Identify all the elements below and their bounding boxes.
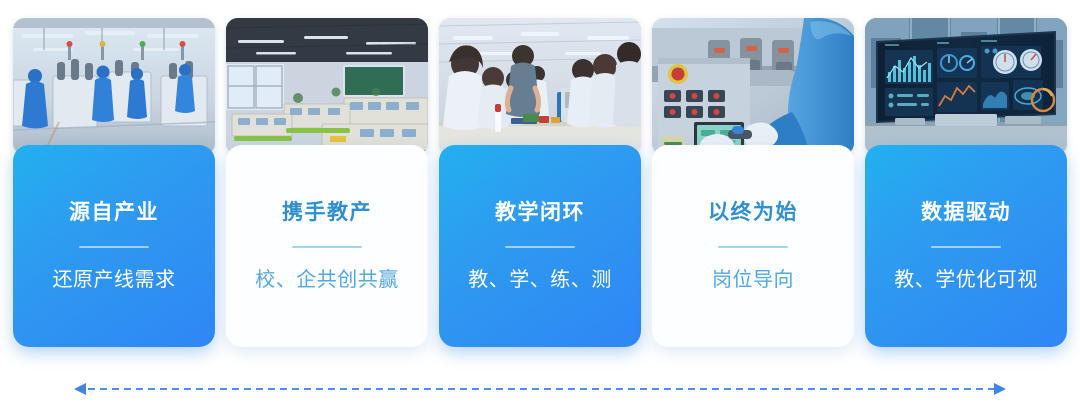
feature-section: 源自产业 还原产线需求: [0, 0, 1080, 408]
photo-operator-control-panel: [652, 18, 854, 155]
teacher-students-lab-icon: [439, 18, 641, 155]
feature-card-subtitle: 还原产线需求: [53, 270, 176, 290]
card-divider: [79, 246, 149, 248]
operator-control-panel-icon: [652, 18, 854, 155]
feature-card-subtitle: 教、学优化可视: [894, 270, 1038, 290]
feature-column: 数据驱动 教、学优化可视: [865, 0, 1067, 372]
card-divider: [931, 246, 1001, 248]
feature-column: 携手教产 校、企共创共赢: [226, 0, 428, 372]
data-dashboard-screen-icon: [865, 18, 1067, 155]
feature-card-4[interactable]: 以终为始 岗位导向: [652, 145, 854, 347]
feature-card-subtitle: 教、学、练、测: [468, 270, 612, 290]
dashed-arrow-icon: [60, 381, 1020, 397]
feature-column: 以终为始 岗位导向: [652, 0, 854, 372]
bidirectional-dashed-arrow: [0, 378, 1080, 400]
feature-card-5[interactable]: 数据驱动 教、学优化可视: [865, 145, 1067, 347]
feature-card-title: 数据驱动: [921, 202, 1011, 223]
cleanroom-production-line-icon: [13, 18, 215, 155]
feature-card-2[interactable]: 携手教产 校、企共创共赢: [226, 145, 428, 347]
feature-card-title: 源自产业: [69, 202, 159, 223]
feature-card-title: 携手教产: [282, 202, 372, 223]
feature-column: 源自产业 还原产线需求: [13, 0, 215, 372]
card-divider: [292, 246, 362, 248]
training-lab-classroom-icon: [226, 18, 428, 155]
photo-data-dashboard-screen: [865, 18, 1067, 155]
card-divider: [505, 246, 575, 248]
feature-card-3[interactable]: 教学闭环 教、学、练、测: [439, 145, 641, 347]
feature-card-title: 教学闭环: [495, 202, 585, 223]
feature-card-subtitle: 校、企共创共赢: [255, 270, 399, 290]
photo-cleanroom-production-line: [13, 18, 215, 155]
feature-card-title: 以终为始: [708, 202, 798, 223]
photo-training-lab-classroom: [226, 18, 428, 155]
feature-card-1[interactable]: 源自产业 还原产线需求: [13, 145, 215, 347]
photo-teacher-students-lab: [439, 18, 641, 155]
card-divider: [718, 246, 788, 248]
feature-cards-row: 源自产业 还原产线需求: [0, 0, 1080, 372]
feature-column: 教学闭环 教、学、练、测: [439, 0, 641, 372]
feature-card-subtitle: 岗位导向: [712, 270, 794, 290]
